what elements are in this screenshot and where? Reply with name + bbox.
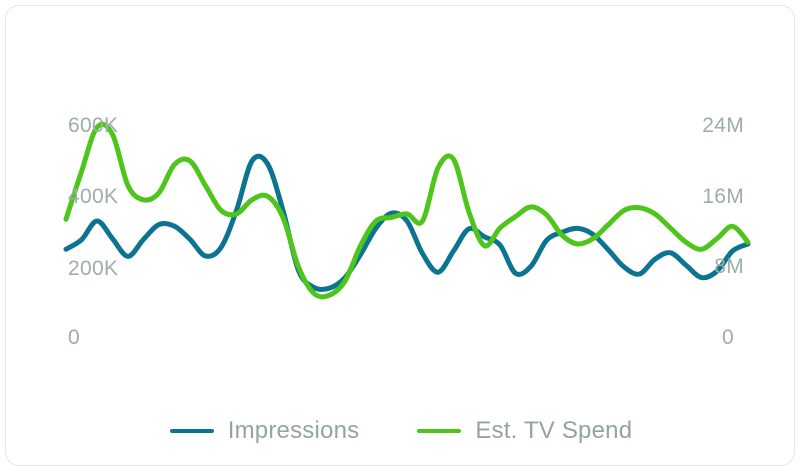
chart-legend: Impressions Est. TV Spend (6, 401, 796, 461)
impressions-swatch (170, 429, 214, 433)
legend-label-impressions: Impressions (228, 419, 360, 443)
y-axis-right-tick-8m: 8M (714, 256, 744, 277)
y-axis-left-tick-200k: 200K (68, 258, 118, 279)
legend-item-impressions[interactable]: Impressions (170, 419, 360, 443)
y-axis-left-tick-0: 0 (68, 327, 80, 348)
y-axis-right-tick-24m: 24M (702, 115, 744, 136)
chart-lines-svg (6, 6, 796, 396)
y-axis-right-tick-0: 0 (722, 327, 734, 348)
legend-item-est-tv-spend[interactable]: Est. TV Spend (417, 419, 632, 443)
chart-plot-area: 600K 400K 200K 0 24M 16M 8M 0 (6, 6, 796, 396)
y-axis-right-tick-16m: 16M (702, 186, 744, 207)
tv-spend-swatch (417, 429, 461, 433)
chart-card: 600K 400K 200K 0 24M 16M 8M 0 Impression… (5, 5, 795, 466)
y-axis-left-tick-400k: 400K (68, 186, 118, 207)
legend-label-est-tv-spend: Est. TV Spend (475, 419, 632, 443)
y-axis-left-tick-600k: 600K (68, 115, 118, 136)
